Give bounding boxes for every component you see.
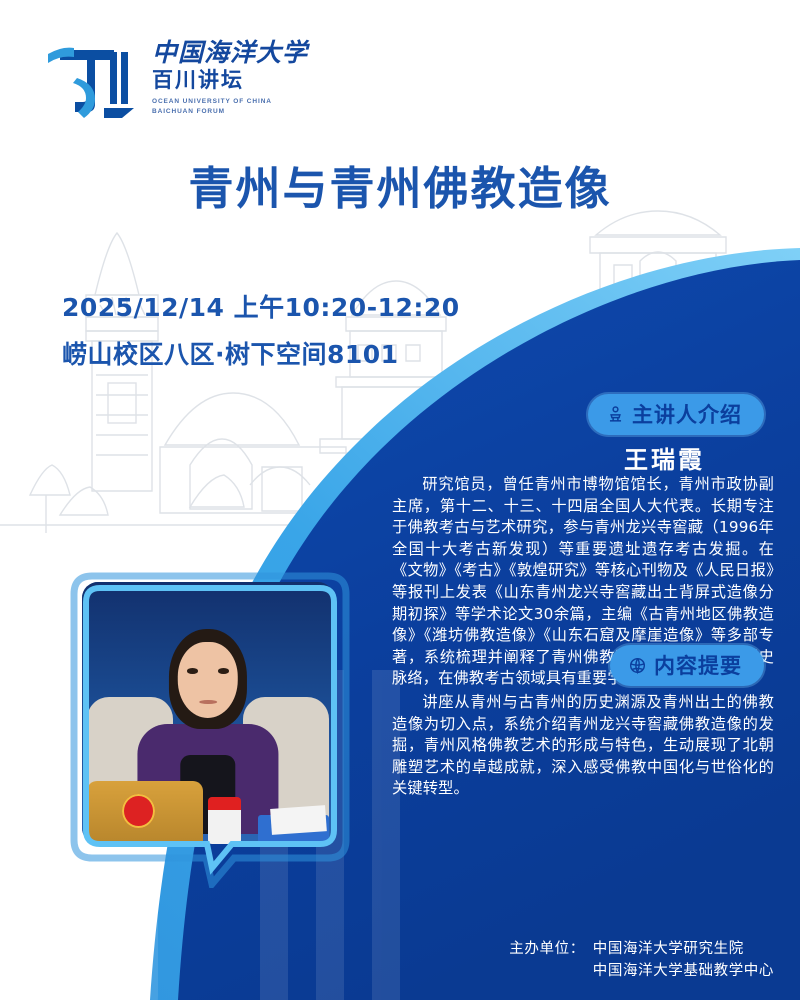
footer-organizers: 主办单位： 中国海洋大学研究生院 中国海洋大学基础教学中心 bbox=[509, 938, 774, 982]
baichuan-logo-icon bbox=[44, 36, 140, 120]
person-icon bbox=[606, 405, 625, 424]
logo-english-line1: OCEAN UNIVERSITY OF CHINA bbox=[152, 97, 308, 106]
speaker-section-badge: 主讲人介绍 bbox=[588, 394, 764, 435]
lecture-abstract: 讲座从青州与古青州的历史渊源及青州出土的佛教造像为切入点，系统介绍青州龙兴寺窖藏… bbox=[392, 692, 774, 800]
speaker-photo bbox=[82, 582, 334, 844]
content-section-badge: 内容提要 bbox=[610, 645, 764, 686]
university-logo: 中国海洋大学 百川讲坛 OCEAN UNIVERSITY OF CHINA BA… bbox=[44, 36, 308, 120]
speaker-photo-bubble bbox=[64, 568, 356, 888]
event-datetime: 2025/12/14 上午10:20-12:20 bbox=[62, 288, 460, 324]
photo-cup-lid bbox=[208, 797, 241, 810]
logo-english-line2: BAICHUAN FORUM bbox=[152, 107, 308, 116]
event-meta: 2025/12/14 上午10:20-12:20 崂山校区八区·树下空间8101 bbox=[62, 288, 460, 371]
content-badge-label: 内容提要 bbox=[654, 650, 742, 680]
photo-papers bbox=[270, 805, 327, 835]
poster-title: 青州与青州佛教造像 bbox=[0, 152, 800, 217]
logo-forum-name: 百川讲坛 bbox=[152, 70, 308, 91]
event-location: 崂山校区八区·树下空间8101 bbox=[62, 335, 460, 371]
globe-icon bbox=[628, 656, 647, 675]
speaker-badge-label: 主讲人介绍 bbox=[632, 399, 742, 429]
photo-face bbox=[178, 642, 238, 718]
lecture-poster: 中国海洋大学 百川讲坛 OCEAN UNIVERSITY OF CHINA BA… bbox=[0, 0, 800, 1000]
footer-organizer-2: 中国海洋大学基础教学中心 bbox=[593, 960, 774, 982]
logo-chinese-name: 中国海洋大学 bbox=[152, 40, 308, 65]
footer-label: 主办单位： bbox=[509, 938, 585, 982]
photo-eye-left bbox=[187, 668, 198, 674]
speaker-name: 王瑞霞 bbox=[624, 440, 705, 475]
footer-organizer-1: 中国海洋大学研究生院 bbox=[593, 938, 774, 960]
